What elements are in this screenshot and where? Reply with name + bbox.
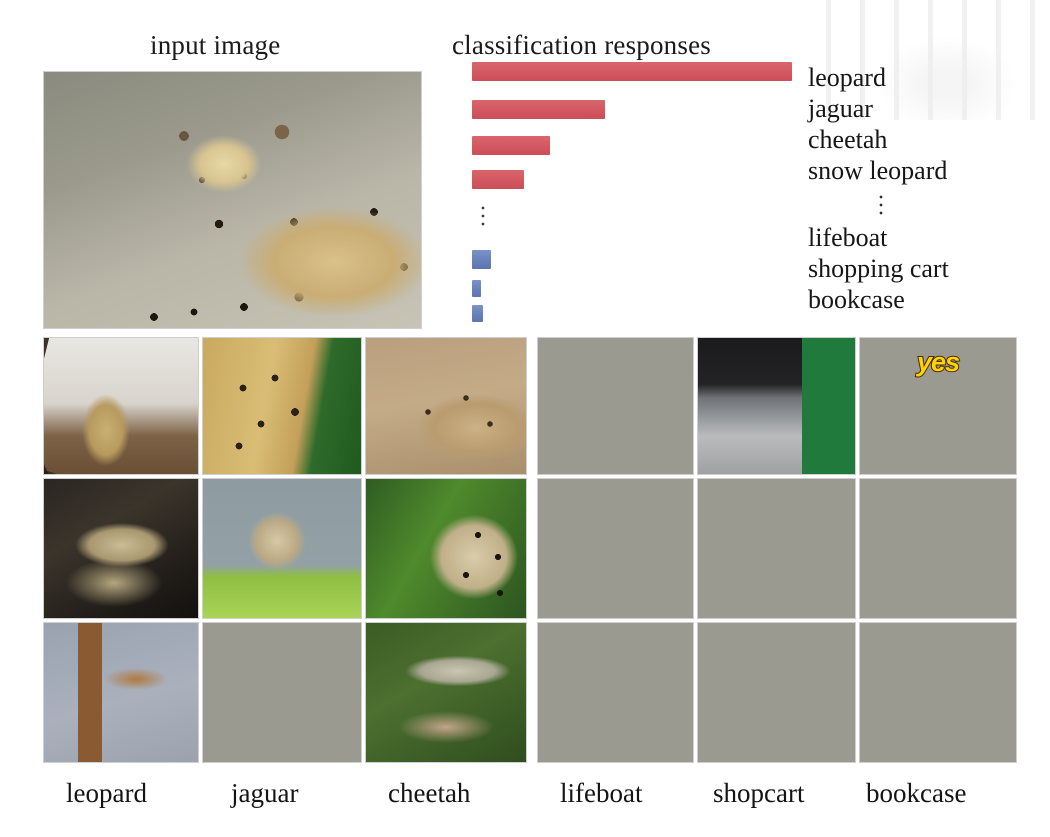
- classification-bar-chart: [472, 62, 812, 322]
- caption-bookcase: bookcase: [866, 778, 966, 809]
- class-label-ellipsis: [808, 186, 1048, 222]
- thumb-cheetah-closeup: [366, 479, 526, 618]
- thumb-cheetah-lying-grass: [366, 623, 526, 762]
- caption-jaguar: jaguar: [231, 778, 298, 809]
- thumb-shopping-carts-green-screen: [698, 338, 855, 474]
- class-label-bookcase: bookcase: [808, 284, 1048, 315]
- bar-lifeboat: [472, 250, 491, 269]
- thumb-lifeboat-on-trailer: [538, 338, 693, 474]
- thumb-jaguar-in-grass: [203, 338, 361, 474]
- thumb-people-with-cart: [698, 623, 855, 762]
- thumb-leopard-tail-on-trunk: [44, 623, 198, 762]
- class-label-snow-leopard: snow leopard: [808, 155, 1048, 186]
- caption-leopard: leopard: [66, 778, 147, 809]
- thumb-cheetahs-on-sand: [366, 338, 526, 474]
- thumb-jaguar-on-branch: [203, 623, 361, 762]
- bar-leopard: [472, 62, 792, 81]
- thumb-person-at-bookcase: [860, 623, 1016, 762]
- class-label-list: leopard jaguar cheetah snow leopard life…: [808, 62, 1048, 315]
- caption-lifeboat: lifeboat: [560, 778, 642, 809]
- class-label-shopping-cart: shopping cart: [808, 253, 1048, 284]
- thumb-leopard-on-rock-dark: [44, 479, 198, 618]
- thumbnail-grid-right: yes: [538, 338, 1014, 762]
- caption-shopcart: shopcart: [713, 778, 804, 809]
- page-title-classification-responses: classification responses: [452, 30, 711, 61]
- chart-ellipsis: [480, 205, 486, 227]
- bar-shopping-cart: [472, 280, 481, 297]
- bar-bookcase: [472, 305, 483, 322]
- bar-cheetah: [472, 136, 550, 155]
- class-label-cheetah: cheetah: [808, 124, 1048, 155]
- thumb-bookshelves-room: [860, 479, 1016, 618]
- thumb-bookcase-with-yes: yes: [860, 338, 1016, 474]
- thumb-boat-bw-sea: [538, 623, 693, 762]
- page-title-input-image: input image: [150, 30, 280, 61]
- yes-annotation-badge: yes: [917, 347, 959, 378]
- bar-jaguar: [472, 100, 605, 119]
- input-image-photo: [44, 72, 421, 328]
- thumb-shopping-cart-white: [698, 479, 855, 618]
- caption-cheetah: cheetah: [388, 778, 470, 809]
- thumb-naval-vessel-harbour: [538, 479, 693, 618]
- class-label-jaguar: jaguar: [808, 93, 1048, 124]
- thumb-leopard-in-tree: [44, 338, 198, 474]
- thumbnail-grid-left: [44, 338, 526, 762]
- thumb-leopard-cub-in-grass: [203, 479, 361, 618]
- class-label-leopard: leopard: [808, 62, 1048, 93]
- figure-canvas: input image classification responses leo…: [0, 0, 1050, 837]
- class-label-lifeboat: lifeboat: [808, 222, 1048, 253]
- bar-snow-leopard: [472, 170, 524, 189]
